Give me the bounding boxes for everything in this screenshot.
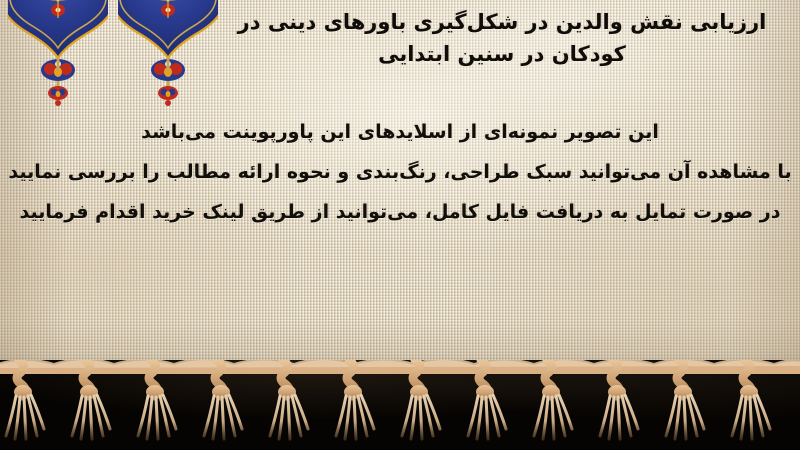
slide-title-line-2: سنین ابتدایی (378, 42, 514, 66)
slide-title: ارزیابی نقش والدین در شکل‌گیری باورهای د… (222, 6, 782, 70)
slide-body-line-3: در صورت تمایل به دریافت فایل کامل، می‌تو… (0, 192, 800, 232)
carpet-fringe-tassels (0, 360, 800, 450)
slide-body-line-2: با مشاهده آن می‌توانید سبک طراحی، رنگ‌بن… (0, 152, 800, 192)
presentation-slide: ارزیابی نقش والدین در شکل‌گیری باورهای د… (0, 0, 800, 450)
slide-text-layer: ارزیابی نقش والدین در شکل‌گیری باورهای د… (0, 0, 800, 378)
slide-body: این تصویر نمونه‌ای از اسلایدهای این پاور… (0, 112, 800, 232)
fringe-tassel-row-icon (0, 360, 800, 450)
slide-body-line-1: این تصویر نمونه‌ای از اسلایدهای این پاور… (0, 112, 800, 152)
